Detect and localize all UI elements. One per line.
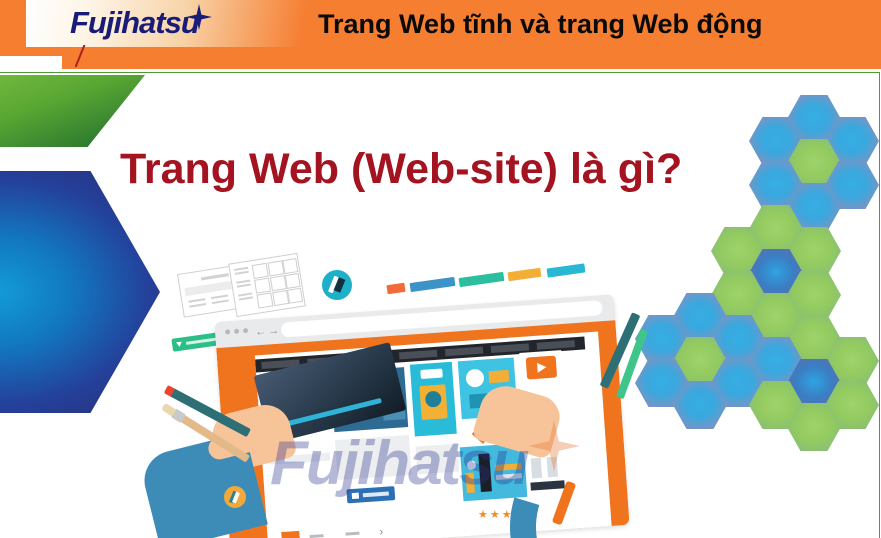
blue-hexagon-shape [0,171,160,413]
color-tag [386,283,405,294]
play-button-icon[interactable] [519,350,563,387]
content-bar [335,435,412,480]
color-tag [410,277,456,292]
wireframe-grid-card [228,253,306,317]
edit-circle-icon [224,486,246,508]
star-rating: ★★★ [478,510,514,521]
color-tag [459,272,505,287]
arrow-left-icon[interactable]: ← [255,327,267,339]
four-point-star-icon [186,4,212,30]
slide-root: Fujihatsu Trang Web tĩnh và trang Web độ… [0,0,881,538]
color-tag [508,268,542,282]
logo-swoosh-icon [75,45,105,67]
header-title: Trang Web tĩnh và trang Web động [318,7,858,41]
chevron-right-icon[interactable]: › [379,527,383,538]
slide-body: Trang Web (Web-site) là gì? [0,72,880,538]
color-tag [547,263,586,277]
brand-logo-text: Fujihatsu [70,6,199,40]
header-band-lower [62,46,881,69]
web-design-illustration: ← → [160,248,660,538]
arrow-right-icon[interactable]: → [268,326,280,338]
content-bar [416,444,460,475]
pen-badge-icon [322,270,352,300]
content-thumb [410,362,457,437]
page-title: Trang Web (Web-site) là gì? [120,143,800,195]
green-wedge-shape [0,75,145,147]
